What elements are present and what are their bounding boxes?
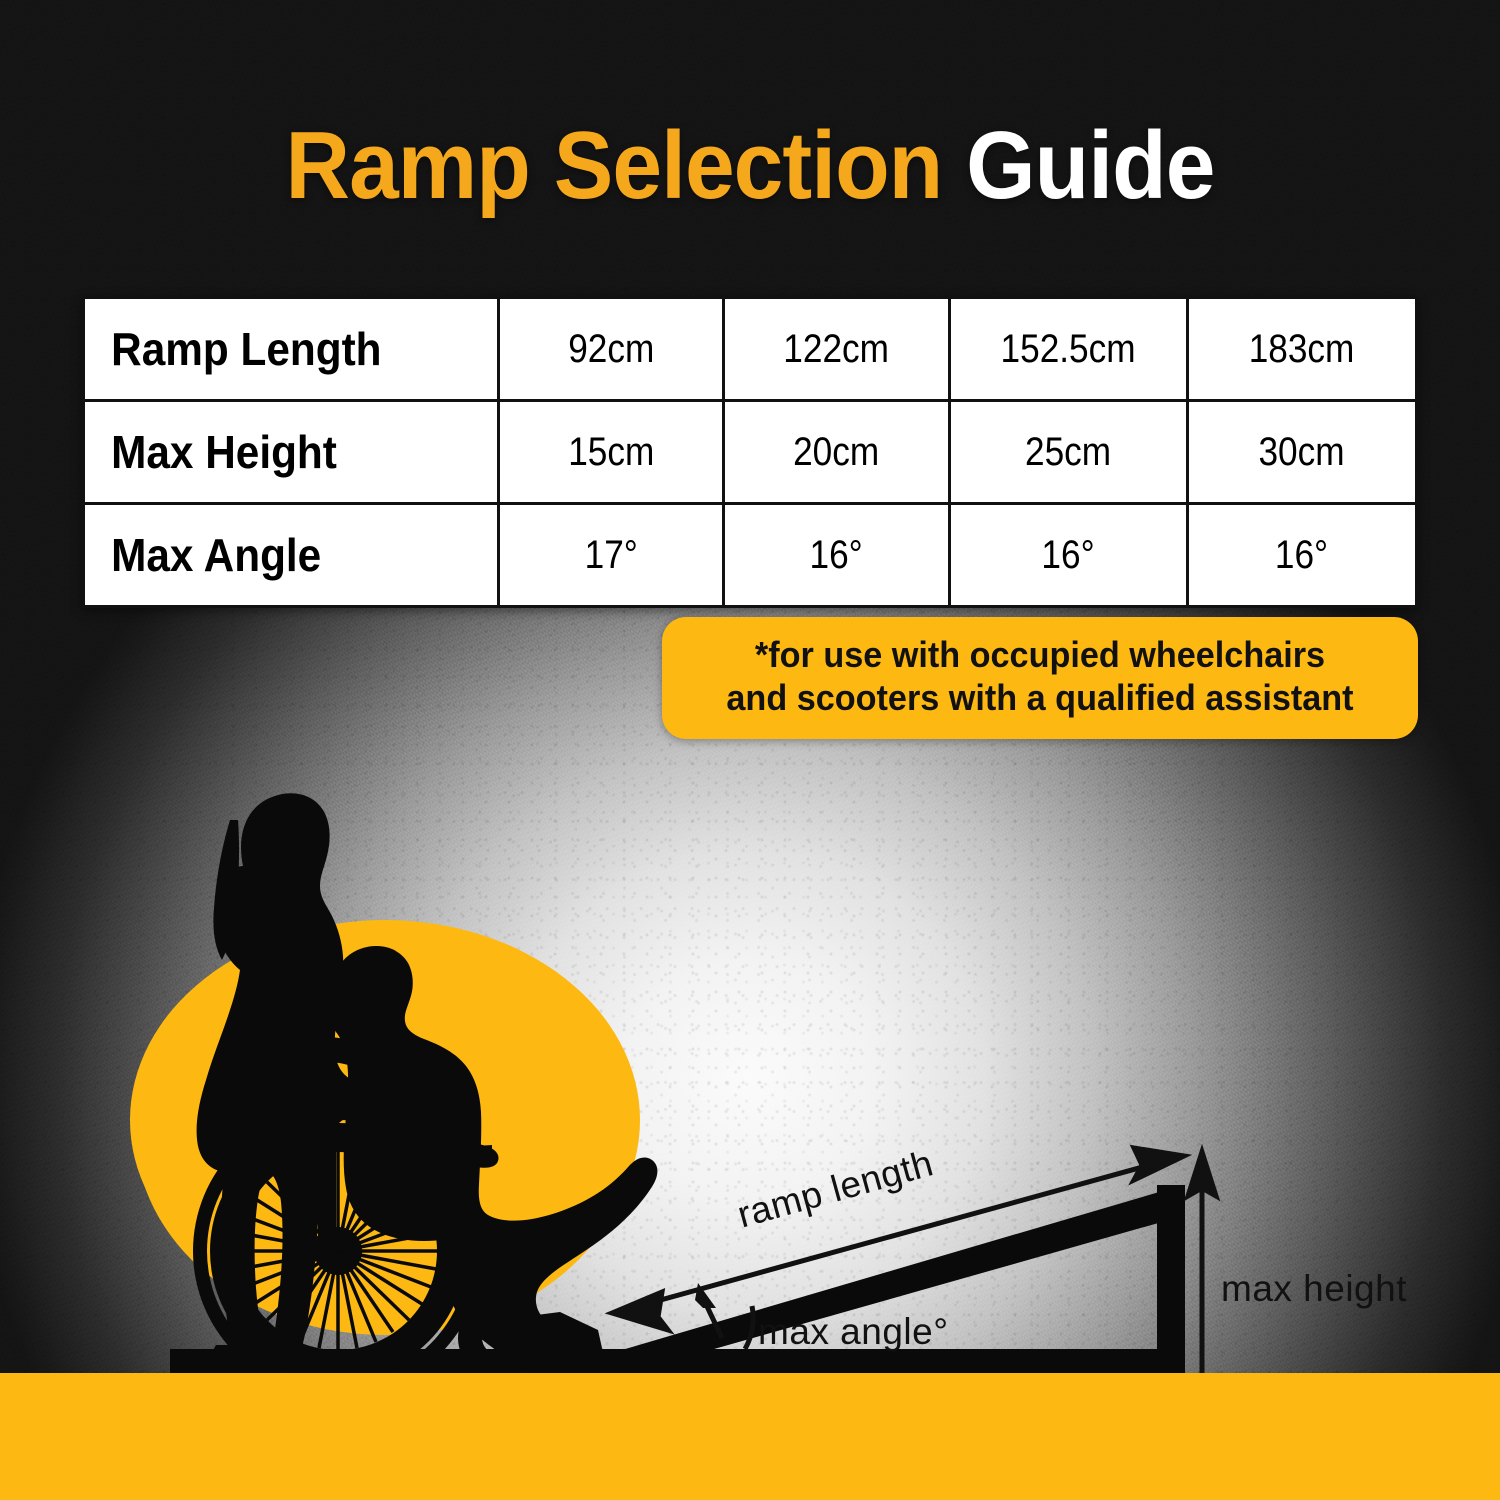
ramp-riser xyxy=(1157,1185,1185,1365)
bottom-accent-band xyxy=(0,1373,1500,1500)
max-height-label: max height xyxy=(1221,1268,1407,1310)
wheel-spokes xyxy=(239,1152,437,1350)
ramp-selection-guide-infographic: Ramp Selection Guide Ramp Length 92cm 12… xyxy=(0,0,1500,1500)
max-height-dimension-arrow xyxy=(1188,1152,1216,1375)
max-angle-label: max angle° xyxy=(758,1311,949,1353)
